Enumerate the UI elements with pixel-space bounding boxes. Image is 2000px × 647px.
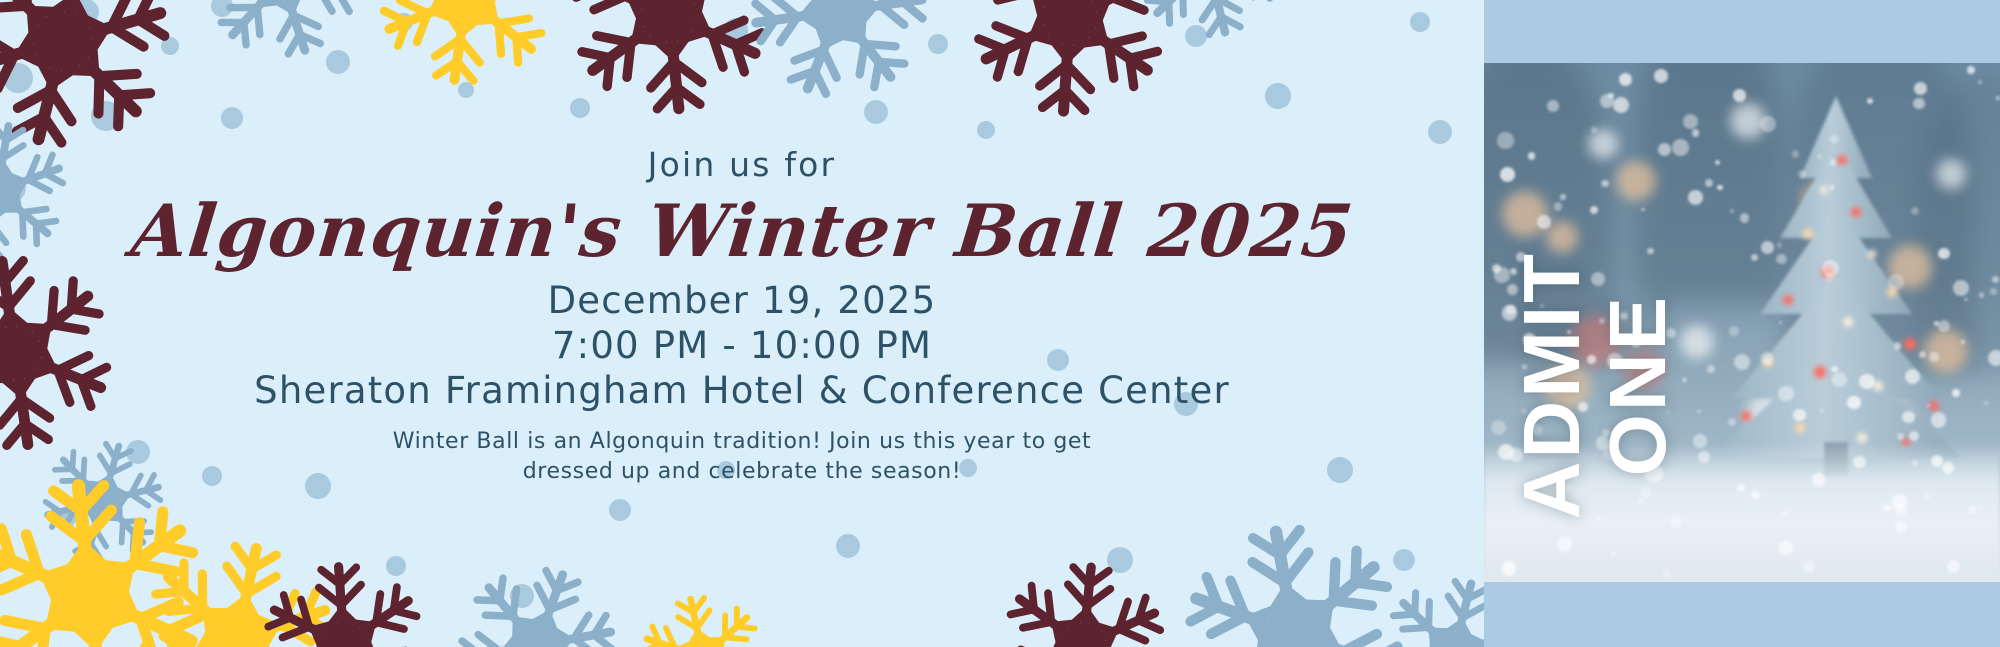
event-blurb-line-2: dressed up and celebrate the season! [393, 457, 1092, 487]
decorative-dot [836, 534, 860, 558]
one-word: ONE [1598, 294, 1678, 476]
snow-fleck [1619, 73, 1632, 86]
snowflake-top-blue-icon [715, 0, 962, 135]
snow-fleck [1978, 80, 1982, 84]
snow-fleck [1547, 100, 1559, 112]
event-venue: Sheraton Framingham Hotel & Conference C… [254, 368, 1230, 413]
decorative-dot [1410, 12, 1430, 32]
decorative-dot [202, 466, 222, 486]
winter-ball-ticket: Join us for Algonquin's Winter Ball 2025… [0, 0, 2000, 647]
decorative-dot [221, 107, 243, 129]
snowflake-bottom-maroon-2-icon [985, 547, 1181, 647]
eyebrow-text: Join us for [648, 148, 837, 181]
invite-panel: Join us for Algonquin's Winter Ball 2025… [0, 0, 1484, 647]
event-blurb: Winter Ball is an Algonquin tradition! J… [393, 427, 1092, 486]
snowflake-bottom-yellow-3-icon [624, 578, 783, 647]
snowflake-bottom-blue-1-icon [428, 536, 646, 647]
snowflake-top-left2-blue-icon [176, 0, 388, 86]
page-title: Algonquin's Winter Ball 2025 [127, 191, 1356, 272]
snow-fleck [1967, 66, 1975, 74]
snow-fleck [1613, 97, 1629, 113]
decorative-dot [1428, 120, 1452, 144]
admit-one-stub: ADMIT ONE [1484, 0, 2000, 647]
snow-fleck [1654, 69, 1668, 83]
decorative-dot [928, 34, 948, 54]
decorative-dot [1327, 457, 1353, 483]
snow-fleck [1608, 93, 1614, 99]
event-blurb-line-1: Winter Ball is an Algonquin tradition! J… [393, 427, 1092, 457]
snow-fleck [1996, 96, 2000, 100]
admit-word: ADMIT [1512, 251, 1592, 519]
decorative-dot [977, 121, 995, 139]
decorative-dot [305, 473, 331, 499]
event-date: December 19, 2025 [548, 278, 937, 323]
decorative-dot [1265, 83, 1291, 109]
decorative-dot [609, 499, 631, 521]
snowflake-top-yellow-icon [360, 0, 572, 104]
event-time: 7:00 PM - 10:00 PM [552, 323, 932, 368]
admit-one-label: ADMIT ONE [1484, 126, 2000, 582]
decorative-dot [326, 50, 350, 74]
snowflake-bottom-maroon-1-icon [250, 550, 438, 647]
winter-tree-photo: ADMIT ONE [1484, 63, 2000, 582]
